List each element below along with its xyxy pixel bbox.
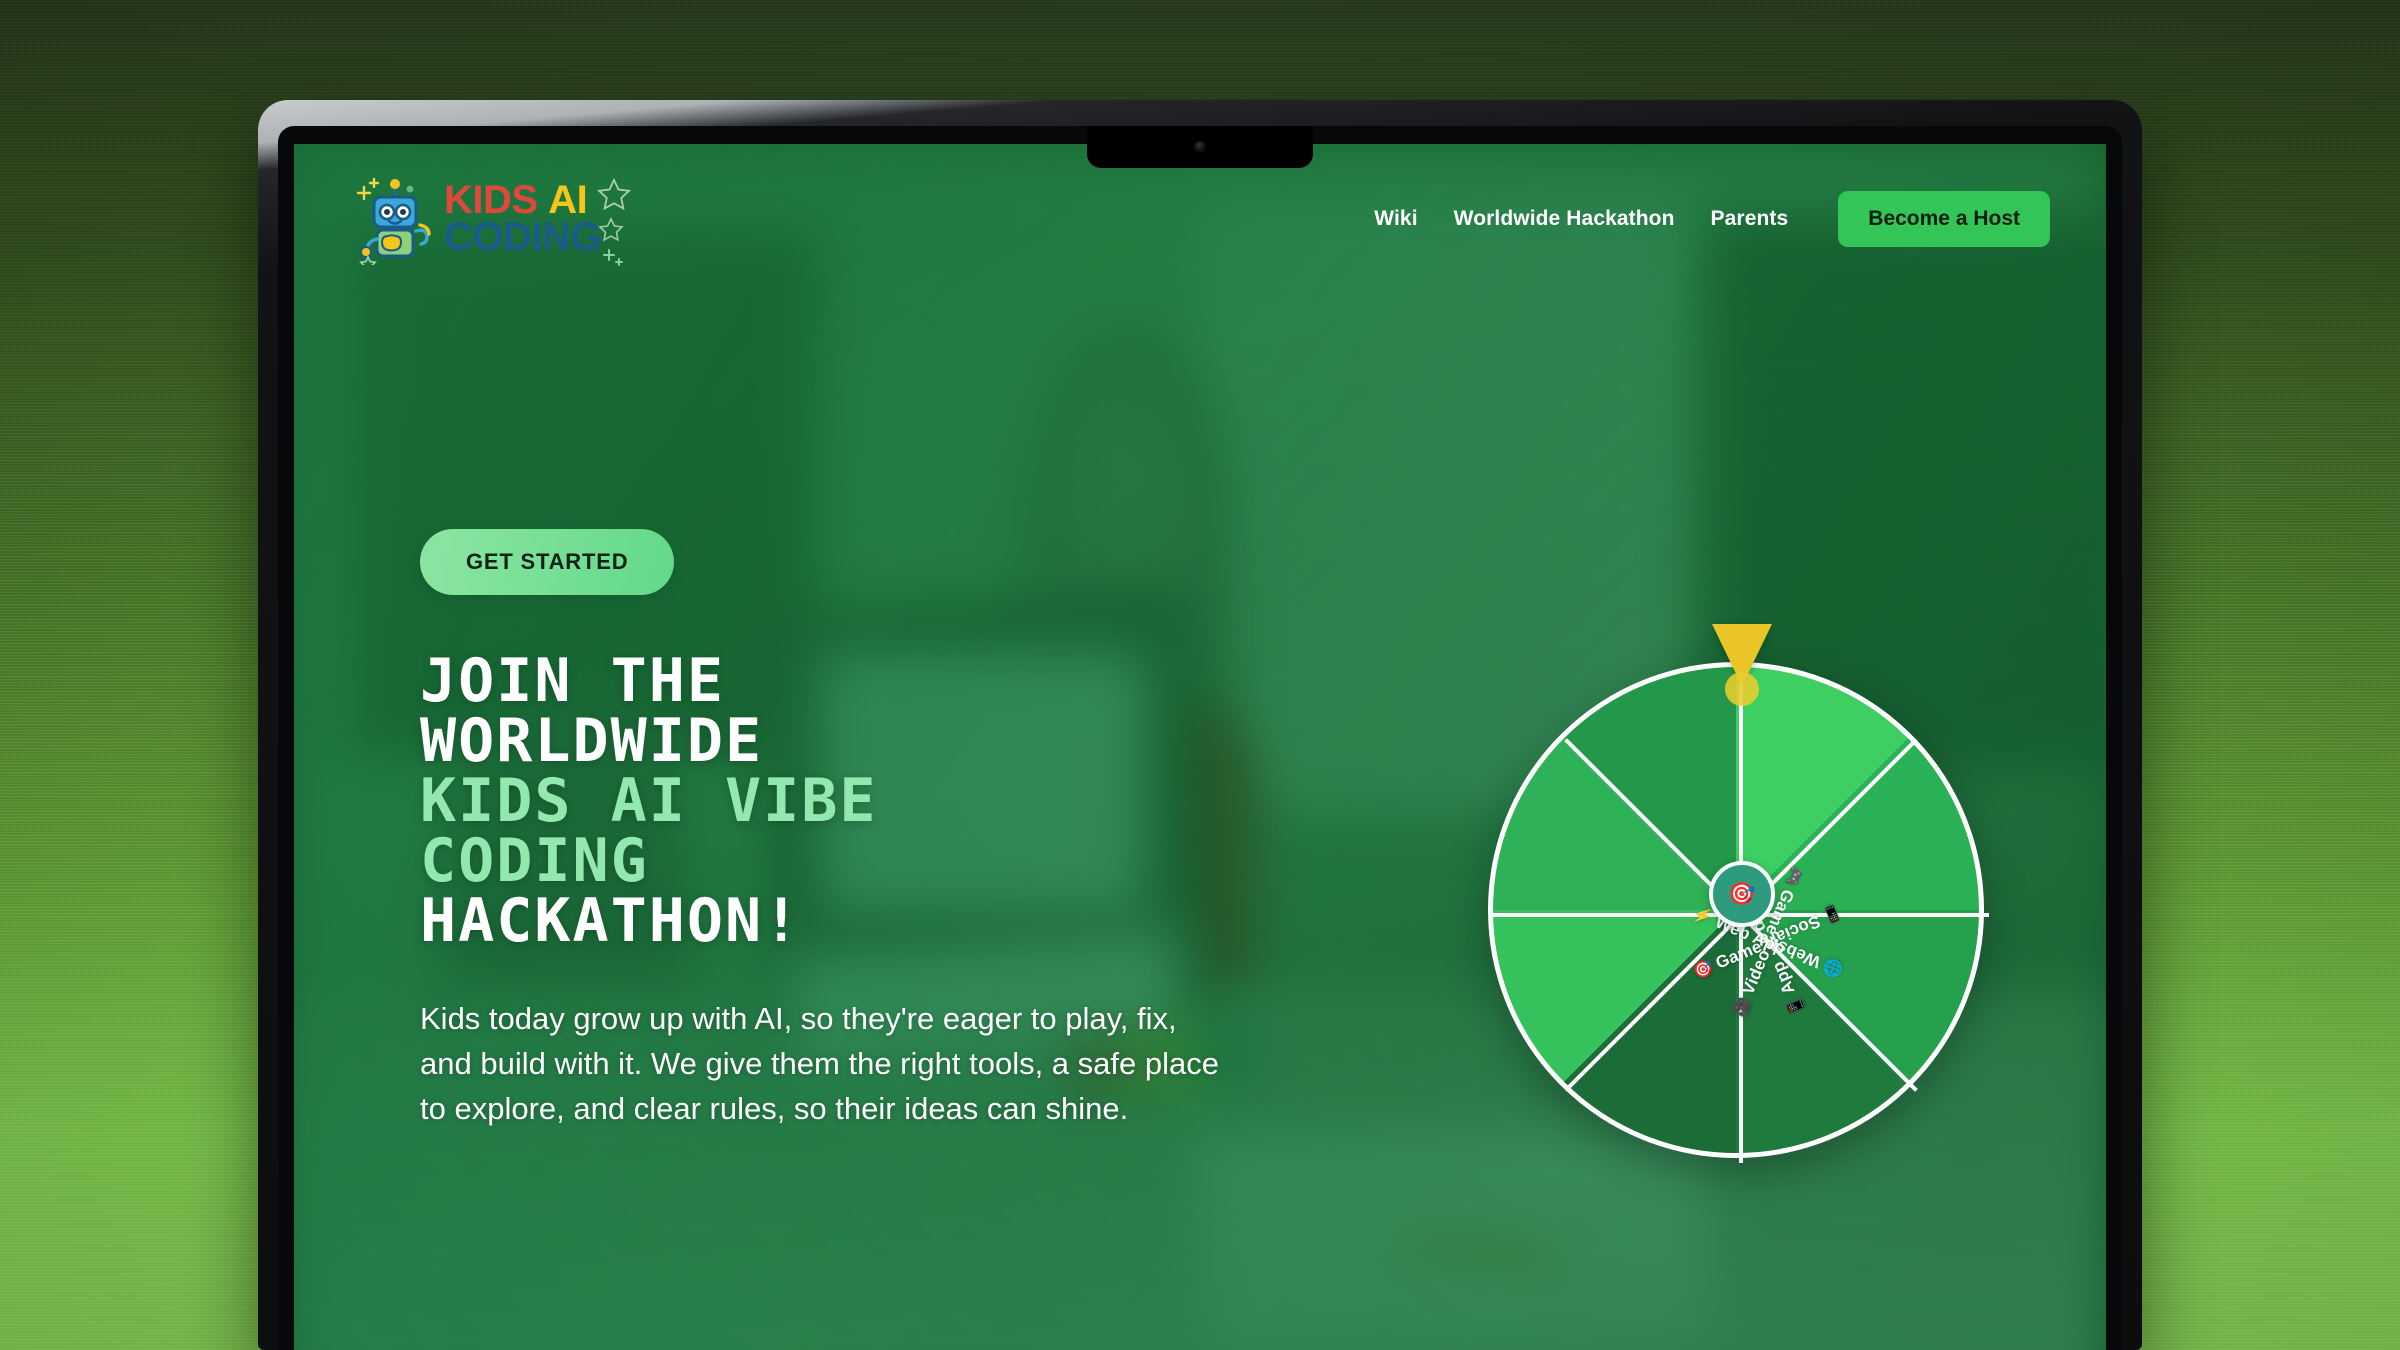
headline-line-4: CODING — [420, 831, 1300, 891]
headline-line-5: HACKATHON! — [420, 891, 1300, 951]
laptop-bezel: KIDS AI CODING — [278, 126, 2122, 1350]
hero-content: GET STARTED JOIN THE WORLDWIDE KIDS AI V… — [420, 529, 1300, 1132]
laptop-notch — [1087, 126, 1313, 168]
nav-wiki[interactable]: Wiki — [1374, 207, 1417, 231]
headline-line-1: JOIN THE — [420, 651, 1300, 711]
nav-parents[interactable]: Parents — [1711, 207, 1789, 231]
laptop-mockup: KIDS AI CODING — [258, 100, 2142, 1350]
logo-wordmark: KIDS AI CODING — [444, 182, 601, 256]
headline-line-3: KIDS AI VIBE — [420, 771, 1300, 831]
main-navigation: Wiki Worldwide Hackathon Parents Become … — [1374, 191, 2050, 247]
website-screen: KIDS AI CODING — [294, 144, 2106, 1350]
camera-icon — [1196, 142, 1205, 151]
star-outline-small-icon — [596, 216, 626, 246]
nav-worldwide-hackathon[interactable]: Worldwide Hackathon — [1454, 207, 1675, 231]
headline-line-2: WORLDWIDE — [420, 711, 1300, 771]
hero-description: Kids today grow up with AI, so they're e… — [420, 997, 1225, 1132]
wheel-center-hub[interactable]: 🎯 — [1709, 861, 1775, 927]
logo-coding-text: CODING — [444, 219, 601, 256]
spin-wheel[interactable]: 🎮Game📱Social🌐Website📱App🎥Video🎯Game⚡Web … — [1462, 614, 2022, 1174]
sparkle-icon — [599, 244, 629, 274]
page-title: JOIN THE WORLDWIDE KIDS AI VIBE CODING H… — [420, 651, 1300, 951]
get-started-button[interactable]: GET STARTED — [420, 529, 674, 595]
become-a-host-button[interactable]: Become a Host — [1838, 191, 2050, 247]
robot-mascot-icon — [350, 173, 440, 265]
star-outline-icon — [594, 176, 634, 216]
site-logo[interactable]: KIDS AI CODING — [350, 173, 601, 265]
